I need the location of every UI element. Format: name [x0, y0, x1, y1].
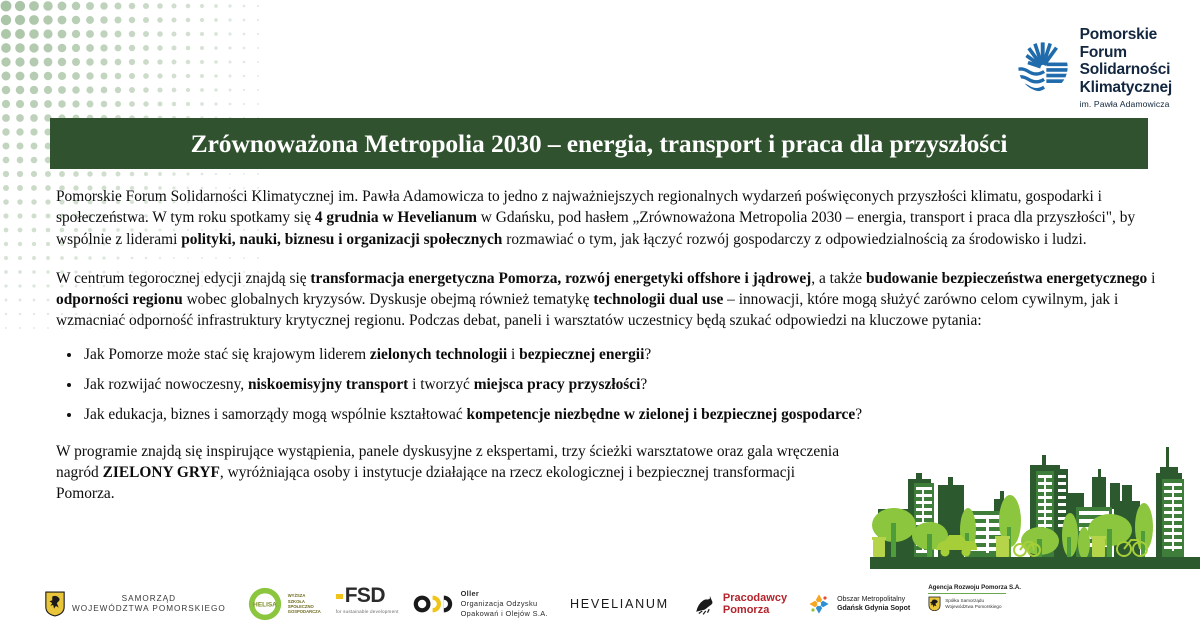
q2-bold2: miejsca pracy przyszłości	[474, 376, 641, 393]
logo-hevelianum: HEVELIANUM	[570, 584, 669, 624]
key-questions-list: Jak Pomorze może stać się krajowym lider…	[56, 344, 1156, 425]
logo-fsd: FSD for sustainable development	[336, 584, 399, 624]
recycling-bin-icon	[872, 537, 886, 557]
brand-name-line-4: Klimatycznej	[1080, 79, 1172, 97]
p2-part2: , a także	[811, 270, 866, 287]
q2-part1: Jak rozwijać nowoczesny,	[84, 376, 248, 393]
p2-bold2: budowanie bezpieczeństwa energetycznego	[866, 270, 1147, 287]
logo-samorzad-caption: SAMORZĄD WOJEWÓDZTWA POMORSKIEGO	[72, 594, 226, 615]
logo-pracodawcy-line2: Pomorza	[723, 604, 787, 616]
q2-part2: i tworzyć	[408, 376, 473, 393]
logo-omgg-line1: Obszar Metropolitalny	[837, 595, 910, 604]
arp-crest-icon	[928, 596, 941, 611]
list-item: Jak rozwijać nowoczesny, niskoemisyjny t…	[56, 374, 1156, 395]
recycling-bin-icon	[995, 536, 1010, 557]
logo-fsd-mark: FSD	[336, 584, 385, 608]
pomeranian-griffin-crest-icon	[44, 591, 66, 617]
list-item: Jak Pomorze może stać się krajowym lider…	[56, 344, 1156, 365]
logo-pracodawcy-line1: Pracodawcy	[723, 592, 787, 604]
oller-rings-icon	[413, 593, 455, 615]
logo-helisa-caption: WYŻSZA SZKOŁA SPOŁECZNO GOSPODARCZA	[288, 593, 322, 615]
brand-wordmark: Pomorskie Forum Solidarności Klimatyczne…	[1080, 26, 1172, 109]
page-title: Zrównoważona Metropolia 2030 – energia, …	[191, 129, 1008, 159]
logo-arp-line2: Województwa Pomorskiego	[945, 604, 1001, 610]
p2-part1: W centrum tegorocznej edycji znajdą się	[56, 270, 310, 287]
paragraph-programme: W programie znajdą się inspirujące wystą…	[56, 441, 856, 505]
logo-samorzad-line2: WOJEWÓDZTWA POMORSKIEGO	[72, 604, 226, 614]
logo-oller-line3: Opakowań i Olejów S.A.	[461, 609, 548, 619]
partner-logos-bar: SAMORZĄD WOJEWÓDZTWA POMORSKIEGO HELISA …	[0, 578, 1200, 630]
q1-part2: i	[507, 346, 519, 363]
logo-agencja-rozwoju-pomorza: Agencja Rozwoju Pomorza S.A. Spółka Samo…	[928, 584, 1021, 624]
q3-part1: Jak edukacja, biznes i samorządy mogą ws…	[84, 406, 467, 423]
q3-bold1: kompetencje niezbędne w zielonej i bezpi…	[467, 406, 856, 423]
logo-samorzad-line1: SAMORZĄD	[72, 594, 226, 604]
logo-oller-caption: Oller Organizacja Odzysku Opakowań i Ole…	[461, 589, 548, 619]
main-content: Pomorskie Forum Solidarności Klimatyczne…	[56, 186, 1156, 523]
logo-oller: Oller Organizacja Odzysku Opakowań i Ole…	[413, 584, 548, 624]
logo-arp-title: Agencja Rozwoju Pomorza S.A.	[928, 584, 1021, 591]
q2-bold1: niskoemisyjny transport	[248, 376, 408, 393]
q1-bold2: bezpiecznej energii	[519, 346, 644, 363]
logo-omgg-line2: Gdańsk Gdynia Sopot	[837, 604, 910, 613]
p1-part3: rozmawiać o tym, jak łączyć rozwój gospo…	[502, 231, 1086, 248]
logo-helisa: HELISA WYŻSZA SZKOŁA SPOŁECZNO GOSPODARC…	[248, 584, 322, 624]
q3-part3: ?	[855, 406, 862, 423]
logo-omgg-caption: Obszar Metropolitalny Gdańsk Gdynia Sopo…	[837, 595, 910, 614]
fsd-dash-icon	[336, 594, 343, 599]
p2-bold3: odporności regionu	[56, 291, 183, 308]
brand-name-line-2: Forum	[1080, 44, 1172, 62]
p2-bold4: technologii dual use	[593, 291, 723, 308]
title-banner: Zrównoważona Metropolia 2030 – energia, …	[50, 118, 1148, 169]
logo-arp-row: Spółka Samorządu Województwa Pomorskiego	[928, 596, 1001, 611]
brand-logo: Pomorskie Forum Solidarności Klimatyczne…	[1015, 26, 1172, 109]
logo-oller-line2: Organizacja Odzysku	[461, 599, 548, 609]
logo-fsd-text: FSD	[345, 584, 385, 608]
paragraph-intro: Pomorskie Forum Solidarności Klimatyczne…	[56, 186, 1156, 250]
logo-fsd-caption: for sustainable development	[336, 609, 399, 614]
p4-bold1: ZIELONY GRYF	[103, 464, 220, 481]
p1-bold1: 4 grudnia w Hevelianum	[315, 209, 477, 226]
logo-samorzad-wojewodztwa-pomorskiego: SAMORZĄD WOJEWÓDZTWA POMORSKIEGO	[44, 584, 226, 624]
brand-subtitle: im. Pawła Adamowicza	[1080, 99, 1172, 109]
omgg-star-icon	[807, 592, 831, 616]
helisa-green-circle-icon: HELISA	[248, 587, 282, 621]
paragraph-themes: W centrum tegorocznej edycji znajdą się …	[56, 268, 1156, 332]
logo-arp-caption: Spółka Samorządu Województwa Pomorskiego	[945, 598, 1001, 610]
q1-part3: ?	[644, 346, 651, 363]
pracodawcy-pomorza-griffin-icon	[691, 591, 717, 617]
q1-part1: Jak Pomorze może stać się krajowym lider…	[84, 346, 370, 363]
p2-part3: i	[1147, 270, 1155, 287]
p2-part4: wobec globalnych kryzysów. Dyskusje obej…	[183, 291, 594, 308]
brand-name-line-1: Pomorskie	[1080, 26, 1172, 44]
pfsk-circular-emblem-icon	[1015, 39, 1071, 95]
svg-text:HELISA: HELISA	[253, 602, 277, 609]
p1-bold2: polityki, nauki, biznesu i organizacji s…	[181, 231, 502, 248]
recycling-bin-icon	[1091, 536, 1106, 557]
logo-obszar-metropolitalny: Obszar Metropolitalny Gdańsk Gdynia Sopo…	[807, 584, 910, 624]
p2-bold1: transformacja energetyczna Pomorza, rozw…	[310, 270, 811, 287]
logo-arp-divider	[928, 593, 1006, 594]
q2-part3: ?	[640, 376, 647, 393]
logo-hevelianum-text: HEVELIANUM	[570, 597, 669, 611]
logo-pracodawcy-caption: Pracodawcy Pomorza	[723, 592, 787, 617]
list-item: Jak edukacja, biznes i samorządy mogą ws…	[56, 404, 1156, 425]
brand-name-line-3: Solidarności	[1080, 61, 1172, 79]
logo-pracodawcy-pomorza: Pracodawcy Pomorza	[691, 584, 787, 624]
logo-oller-line1: Oller	[461, 589, 548, 599]
q1-bold1: zielonych technologii	[370, 346, 507, 363]
